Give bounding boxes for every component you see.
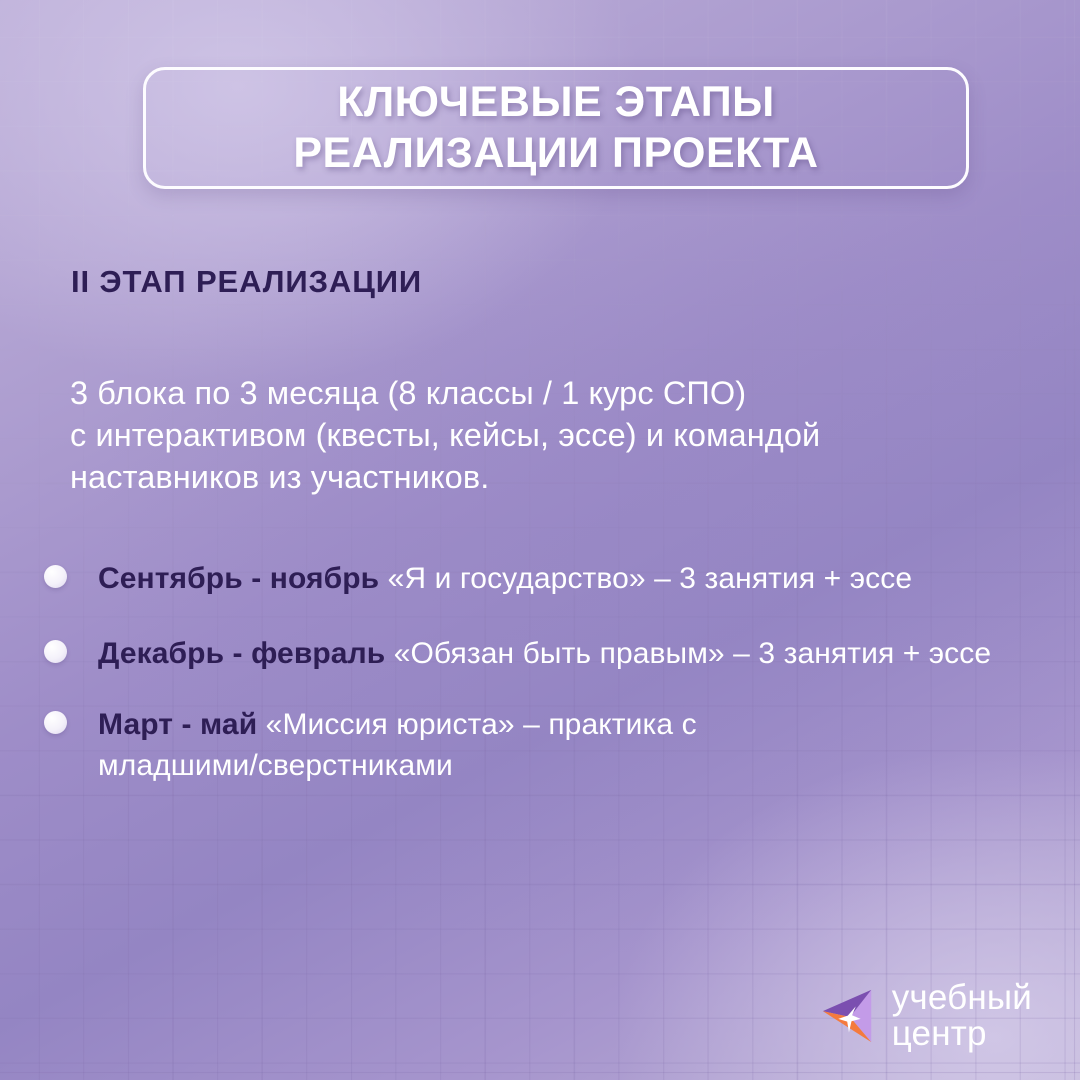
bullet-dot-icon <box>44 640 67 663</box>
list-item: Март - май «Миссия юриста» – практика с … <box>44 704 1044 786</box>
list-item: Сентябрь - ноябрь «Я и государство» – 3 … <box>44 558 1044 599</box>
bullet-list: Сентябрь - ноябрь «Я и государство» – 3 … <box>44 558 1044 820</box>
arrow-sparkle-logo-icon <box>817 985 879 1047</box>
list-item-period: Март - май <box>98 708 257 741</box>
intro-line-2: с интерактивом (квесты, кейсы, эссе) и к… <box>70 414 1010 456</box>
list-item: Декабрь - февраль «Обязан быть правым» –… <box>44 633 1044 674</box>
page-title-line-2: РЕАЛИЗАЦИИ ПРОЕКТА <box>293 128 818 179</box>
brand-logo-wordmark: учебный центр <box>892 980 1032 1052</box>
title-plate: КЛЮЧЕВЫЕ ЭТАПЫ РЕАЛИЗАЦИИ ПРОЕКТА <box>143 67 969 189</box>
stage-heading: II ЭТАП РЕАЛИЗАЦИИ <box>71 264 422 300</box>
bullet-dot-icon <box>44 711 67 734</box>
list-item-text: Сентябрь - ноябрь «Я и государство» – 3 … <box>98 558 1044 599</box>
intro-line-3: наставников из участников. <box>70 456 1010 498</box>
list-item-period: Декабрь - февраль <box>98 637 385 670</box>
list-item-text: Декабрь - февраль «Обязан быть правым» –… <box>98 633 998 674</box>
list-item-period: Сентябрь - ноябрь <box>98 562 379 595</box>
brand-logo-line-2: центр <box>892 1016 1032 1052</box>
slide-canvas: КЛЮЧЕВЫЕ ЭТАПЫ РЕАЛИЗАЦИИ ПРОЕКТА II ЭТА… <box>0 0 1080 1080</box>
page-title-line-1: КЛЮЧЕВЫЕ ЭТАПЫ <box>337 77 775 128</box>
brand-logo-line-1: учебный <box>892 980 1032 1016</box>
bullet-dot-icon <box>44 565 67 588</box>
list-item-detail: «Обязан быть правым» – 3 занятия + эссе <box>385 637 991 670</box>
intro-line-1: 3 блока по 3 месяца (8 классы / 1 курс С… <box>70 372 1010 414</box>
brand-logo: учебный центр <box>817 980 1032 1052</box>
intro-paragraph: 3 блока по 3 месяца (8 классы / 1 курс С… <box>70 372 1010 498</box>
list-item-text: Март - май «Миссия юриста» – практика с … <box>98 704 858 786</box>
list-item-detail: «Я и государство» – 3 занятия + эссе <box>379 562 912 595</box>
